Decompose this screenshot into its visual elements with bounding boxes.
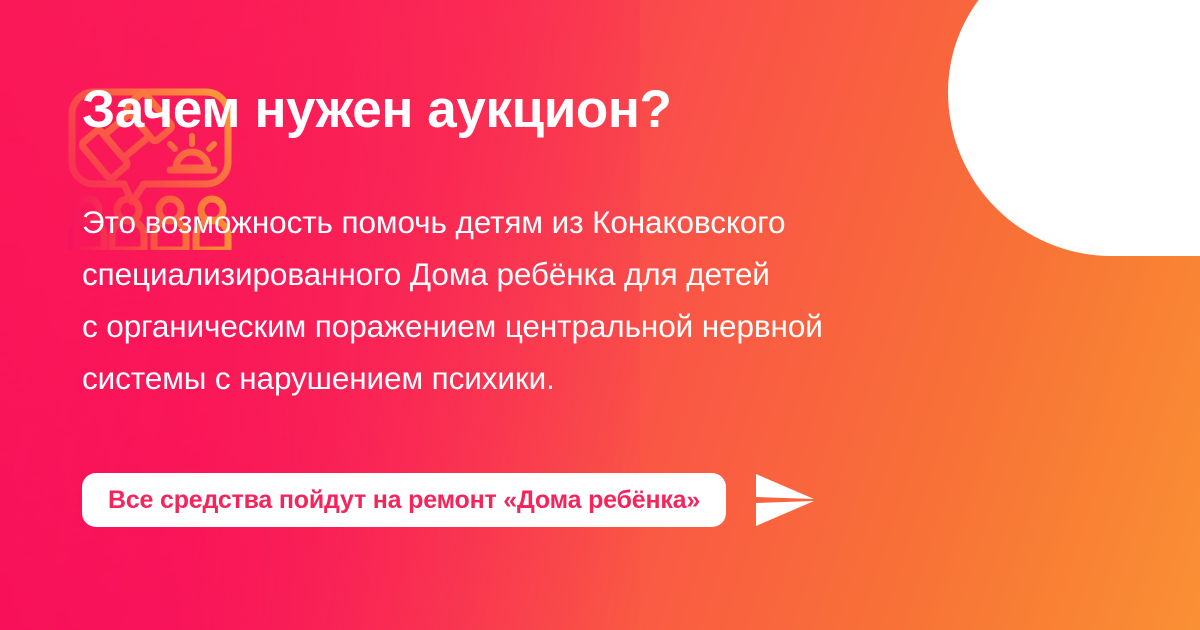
cta-row: Все средства пойдут на ремонт «Дома ребё… [82,472,816,528]
promo-banner: Зачем нужен аукцион? Это возможность пом… [0,0,1200,630]
page-title: Зачем нужен аукцион? [82,78,671,142]
body-line: с органическим поражением центральной не… [82,300,1002,352]
body-line: Это возможность помочь детям из Конаковс… [82,196,1002,248]
cta-button-label: Все средства пойдут на ремонт «Дома ребё… [108,486,700,515]
body-line: специализированного Дома ребёнка для дет… [82,248,1002,300]
play-arrow-icon[interactable] [754,472,816,528]
cta-button[interactable]: Все средства пойдут на ремонт «Дома ребё… [82,473,726,527]
banner-content: Зачем нужен аукцион? Это возможность пом… [82,0,1012,630]
body-line: системы с нарушением психики. [82,352,1002,404]
body-copy: Это возможность помочь детям из Конаковс… [82,196,1002,404]
